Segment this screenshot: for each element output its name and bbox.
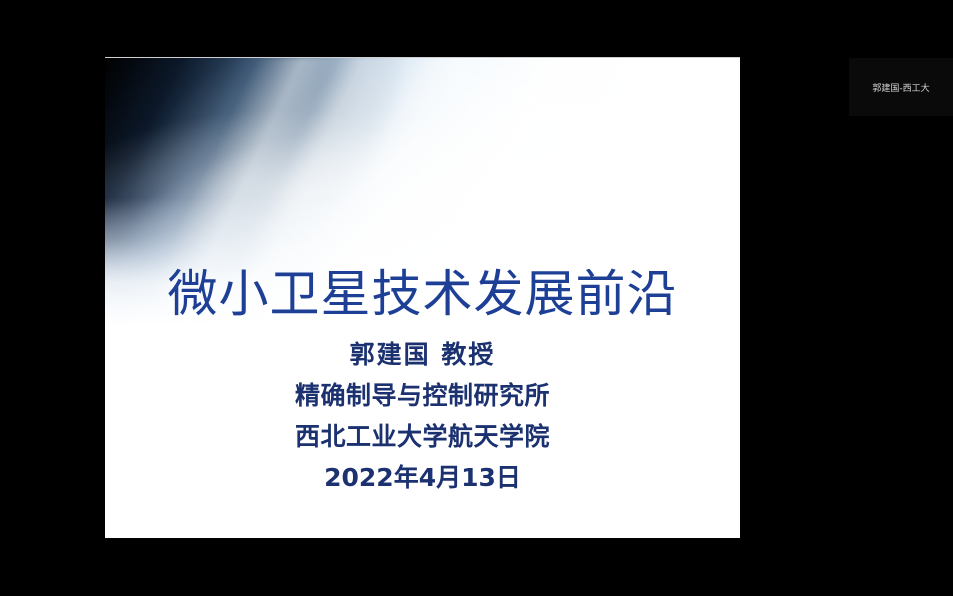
byline-presenter: 郭建国 教授 — [105, 334, 740, 375]
byline-date: 2022年4月13日 — [105, 457, 740, 498]
presentation-slide[interactable]: NORTHWESTERN POLYTECHNICAL UNIVERSITY 19… — [105, 57, 740, 538]
participant-name-label: 郭建国-西工大 — [849, 58, 953, 116]
byline-school: 西北工业大学航天学院 — [105, 416, 740, 457]
video-conference-screen: NORTHWESTERN POLYTECHNICAL UNIVERSITY 19… — [0, 0, 953, 596]
byline-institute: 精确制导与控制研究所 — [105, 375, 740, 416]
slide-title: 微小卫星技术发展前沿 — [105, 264, 740, 324]
participant-video-tile[interactable]: 郭建国-西工大 — [849, 58, 953, 116]
slide-byline: 郭建国 教授 精确制导与控制研究所 西北工业大学航天学院 2022年4月13日 — [105, 334, 740, 498]
